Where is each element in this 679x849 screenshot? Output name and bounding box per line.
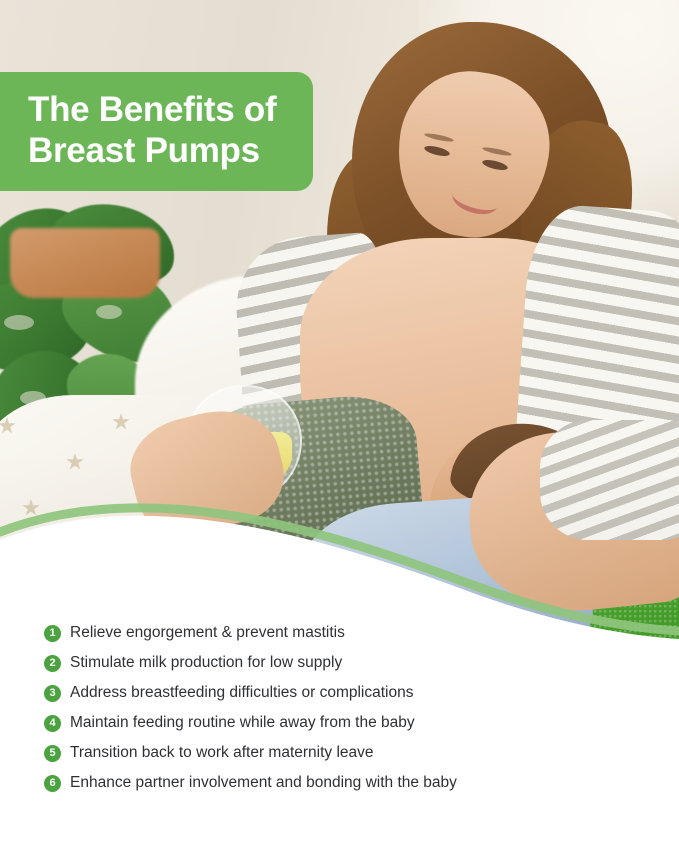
list-item: 4 Maintain feeding routine while away fr… — [0, 708, 679, 738]
benefits-list: 1 Relieve engorgement & prevent mastitis… — [0, 618, 679, 798]
list-number-badge: 5 — [44, 745, 61, 762]
list-item: 5 Transition back to work after maternit… — [0, 738, 679, 768]
list-number-badge: 1 — [44, 625, 61, 642]
list-item-label: Enhance partner involvement and bonding … — [70, 774, 457, 793]
list-item-label: Stimulate milk production for low supply — [70, 654, 342, 673]
infographic-card: The Benefits of Breast Pumps 1 Relieve e… — [0, 0, 679, 849]
title-badge: The Benefits of Breast Pumps — [0, 72, 313, 191]
list-item-label: Address breastfeeding difficulties or co… — [70, 684, 413, 703]
list-item: 3 Address breastfeeding difficulties or … — [0, 678, 679, 708]
list-item-label: Relieve engorgement & prevent mastitis — [70, 624, 345, 643]
list-item: 6 Enhance partner involvement and bondin… — [0, 768, 679, 798]
list-item: 1 Relieve engorgement & prevent mastitis — [0, 618, 679, 648]
list-number-badge: 2 — [44, 655, 61, 672]
list-number-badge: 3 — [44, 685, 61, 702]
page-title: The Benefits of Breast Pumps — [28, 90, 293, 171]
list-item: 2 Stimulate milk production for low supp… — [0, 648, 679, 678]
list-number-badge: 6 — [44, 775, 61, 792]
list-item-label: Maintain feeding routine while away from… — [70, 714, 415, 733]
list-item-label: Transition back to work after maternity … — [70, 744, 374, 763]
list-number-badge: 4 — [44, 715, 61, 732]
